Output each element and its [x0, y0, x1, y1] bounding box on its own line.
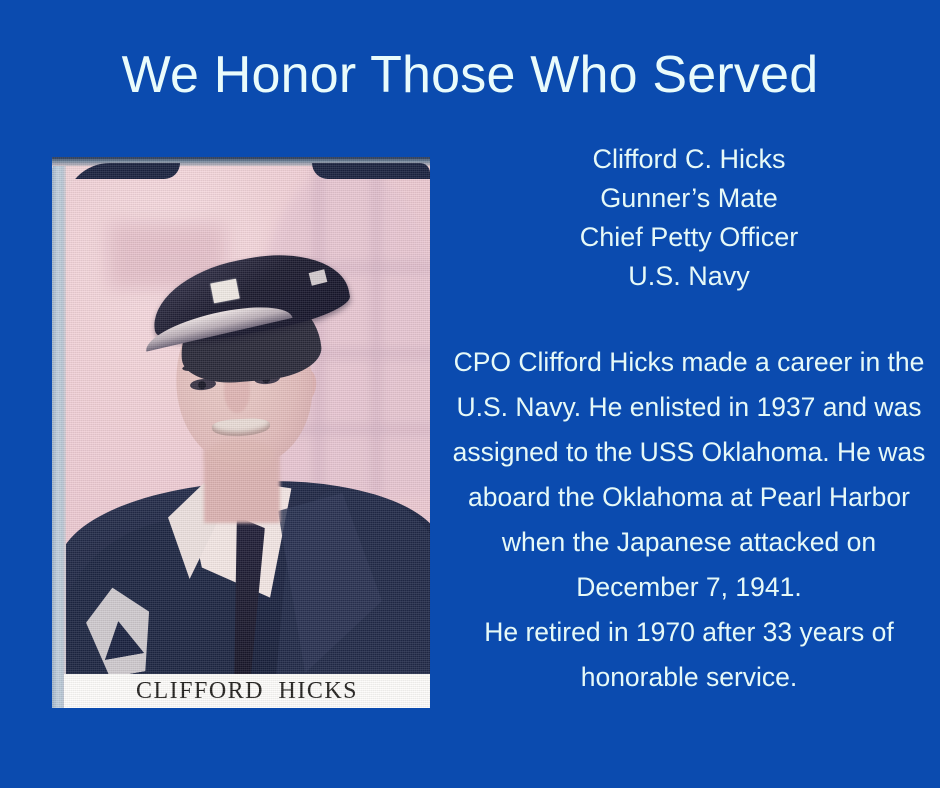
veteran-rank: Chief Petty Officer	[452, 218, 926, 257]
veteran-branch: U.S. Navy	[452, 257, 926, 296]
subject-chin	[204, 439, 276, 473]
photo-nameplate-text: CLIFFORD HICKS	[64, 674, 430, 708]
nameplate-edge-right	[312, 163, 430, 179]
page-title: We Honor Those Who Served	[0, 44, 940, 106]
biography-service-paragraph: CPO Clifford Hicks made a career in the …	[452, 340, 926, 610]
biography-retirement-paragraph: He retired in 1970 after 33 years of hon…	[452, 610, 926, 700]
photo-image-area: CLIFFORD HICKS	[64, 163, 430, 708]
veteran-rating: Gunner’s Mate	[452, 179, 926, 218]
veteran-name: Clifford C. Hicks	[452, 140, 926, 179]
nameplate-edge-left	[64, 163, 180, 179]
biography-block: CPO Clifford Hicks made a career in the …	[452, 340, 926, 700]
tribute-text-column: Clifford C. Hicks Gunner’s Mate Chief Pe…	[452, 140, 926, 700]
portrait-photo: CLIFFORD HICKS	[52, 157, 430, 708]
memorial-poster: We Honor Those Who Served	[0, 0, 940, 788]
photo-border-left	[52, 157, 66, 708]
photo-nameplate: CLIFFORD HICKS	[64, 674, 430, 708]
